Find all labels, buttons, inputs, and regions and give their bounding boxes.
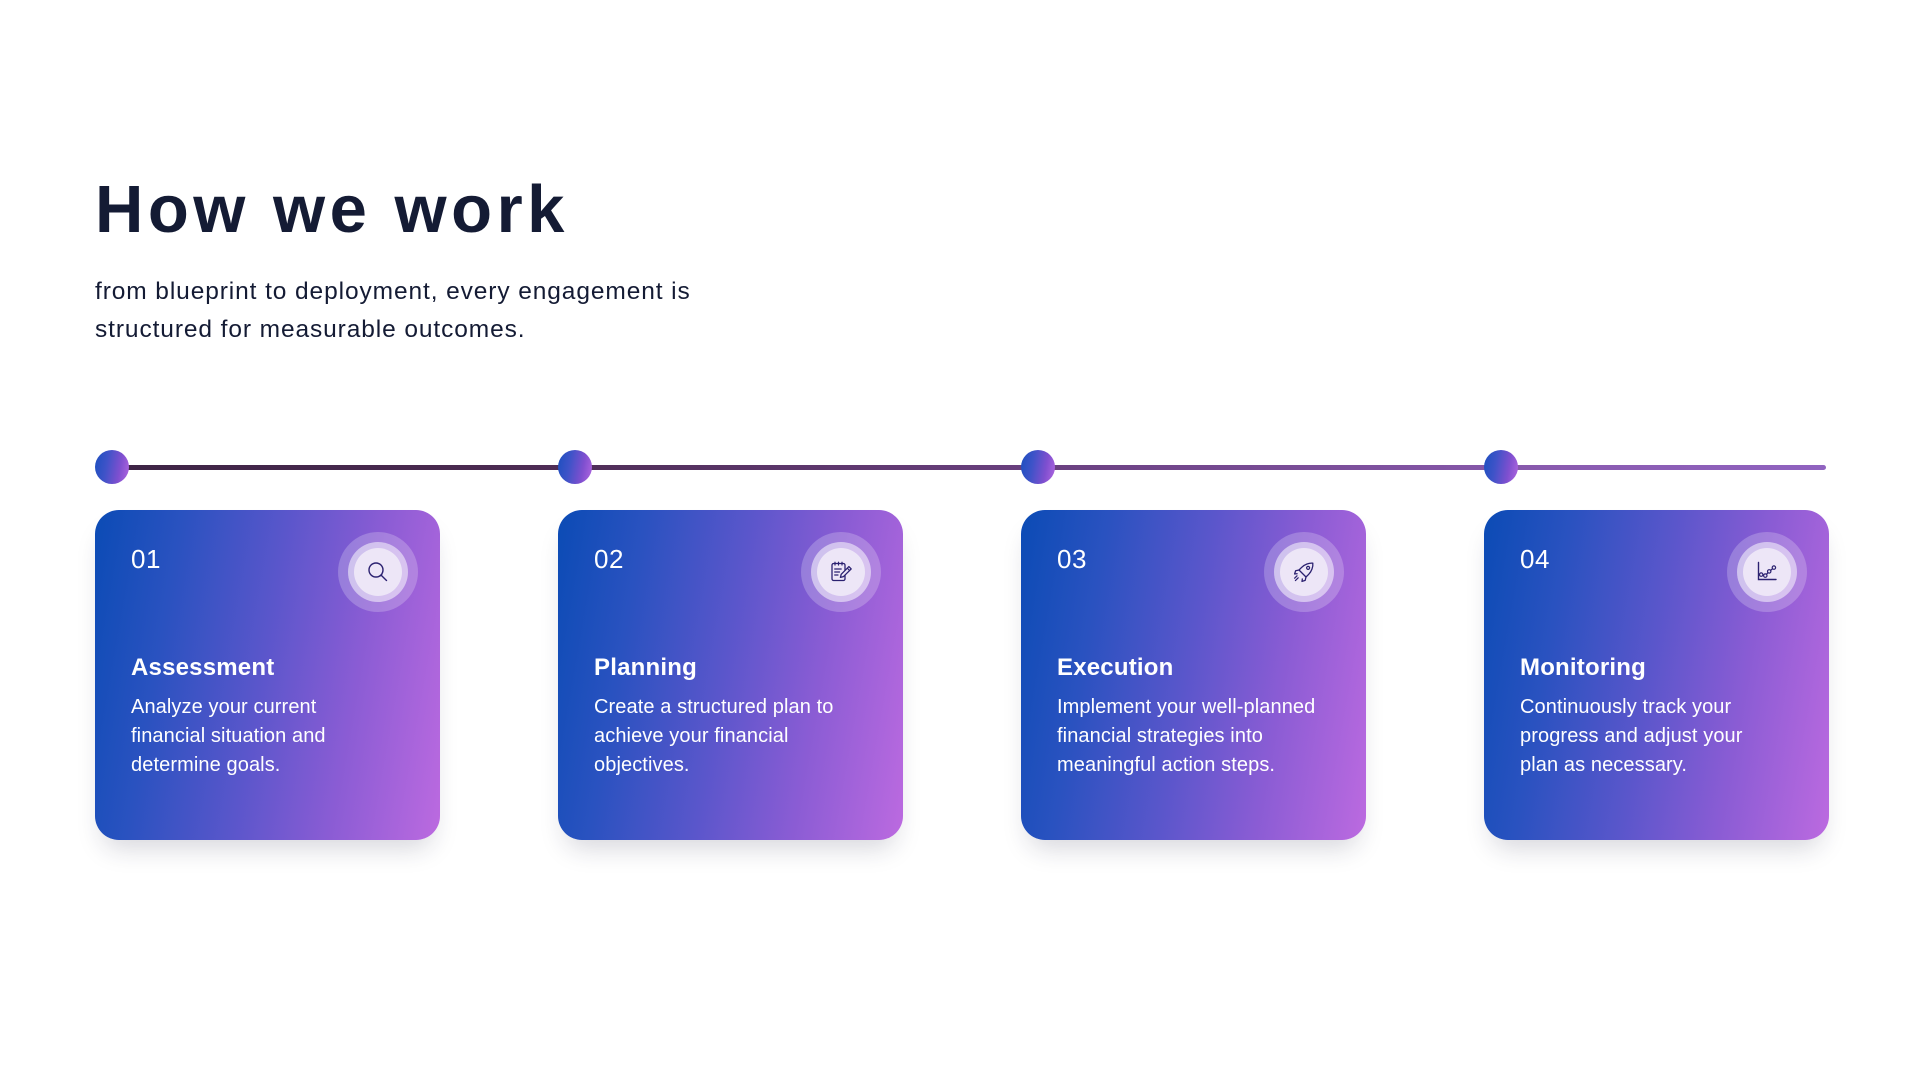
badge-ring-mid xyxy=(1737,542,1797,602)
step-cards-row: 01 Assessment Analyze your current fi xyxy=(0,510,1920,845)
step-card-4-badge xyxy=(1727,532,1807,612)
step-card-4-inner: 04 xyxy=(1484,510,1829,840)
line-chart-icon xyxy=(1754,559,1780,585)
badge-ring-inner xyxy=(1743,548,1791,596)
step-card-4-description: Continuously track your progress and adj… xyxy=(1520,693,1782,780)
step-card-3-badge xyxy=(1264,532,1344,612)
badge-ring-inner xyxy=(1280,548,1328,596)
badge-ring-mid xyxy=(811,542,871,602)
step-card-2-badge xyxy=(801,532,881,612)
step-card-3[interactable]: 03 xyxy=(1021,510,1366,840)
step-dot-1[interactable] xyxy=(95,450,129,484)
page-title: How we work xyxy=(95,175,795,245)
step-card-2-inner: 02 xyxy=(558,510,903,840)
timeline xyxy=(0,450,1920,484)
step-dot-4[interactable] xyxy=(1484,450,1518,484)
header-block: How we work from blueprint to deployment… xyxy=(95,175,795,349)
step-card-2-description: Create a structured plan to achieve your… xyxy=(594,693,856,780)
step-card-2[interactable]: 02 xyxy=(558,510,903,840)
step-card-1-heading: Assessment xyxy=(131,654,274,682)
clipboard-pencil-icon xyxy=(828,559,854,585)
step-card-1[interactable]: 01 Assessment Analyze your current fi xyxy=(95,510,440,840)
timeline-line xyxy=(100,465,1826,470)
step-dot-2[interactable] xyxy=(558,450,592,484)
step-card-1-inner: 01 Assessment Analyze your current fi xyxy=(95,510,440,840)
magnifier-icon xyxy=(365,559,391,585)
step-dot-3[interactable] xyxy=(1021,450,1055,484)
rocket-icon xyxy=(1291,559,1317,585)
step-card-3-description: Implement your well-planned financial st… xyxy=(1057,693,1319,780)
step-card-3-inner: 03 xyxy=(1021,510,1366,840)
step-card-3-heading: Execution xyxy=(1057,654,1174,682)
slide-canvas: How we work from blueprint to deployment… xyxy=(0,0,1920,1080)
badge-ring-mid xyxy=(348,542,408,602)
step-card-4-heading: Monitoring xyxy=(1520,654,1646,682)
badge-ring-inner xyxy=(354,548,402,596)
badge-ring-mid xyxy=(1274,542,1334,602)
step-card-2-heading: Planning xyxy=(594,654,697,682)
badge-ring-inner xyxy=(817,548,865,596)
step-card-4[interactable]: 04 xyxy=(1484,510,1829,840)
step-card-1-description: Analyze your current financial situation… xyxy=(131,693,393,780)
step-card-1-badge xyxy=(338,532,418,612)
page-subtitle: from blueprint to deployment, every enga… xyxy=(95,273,695,349)
